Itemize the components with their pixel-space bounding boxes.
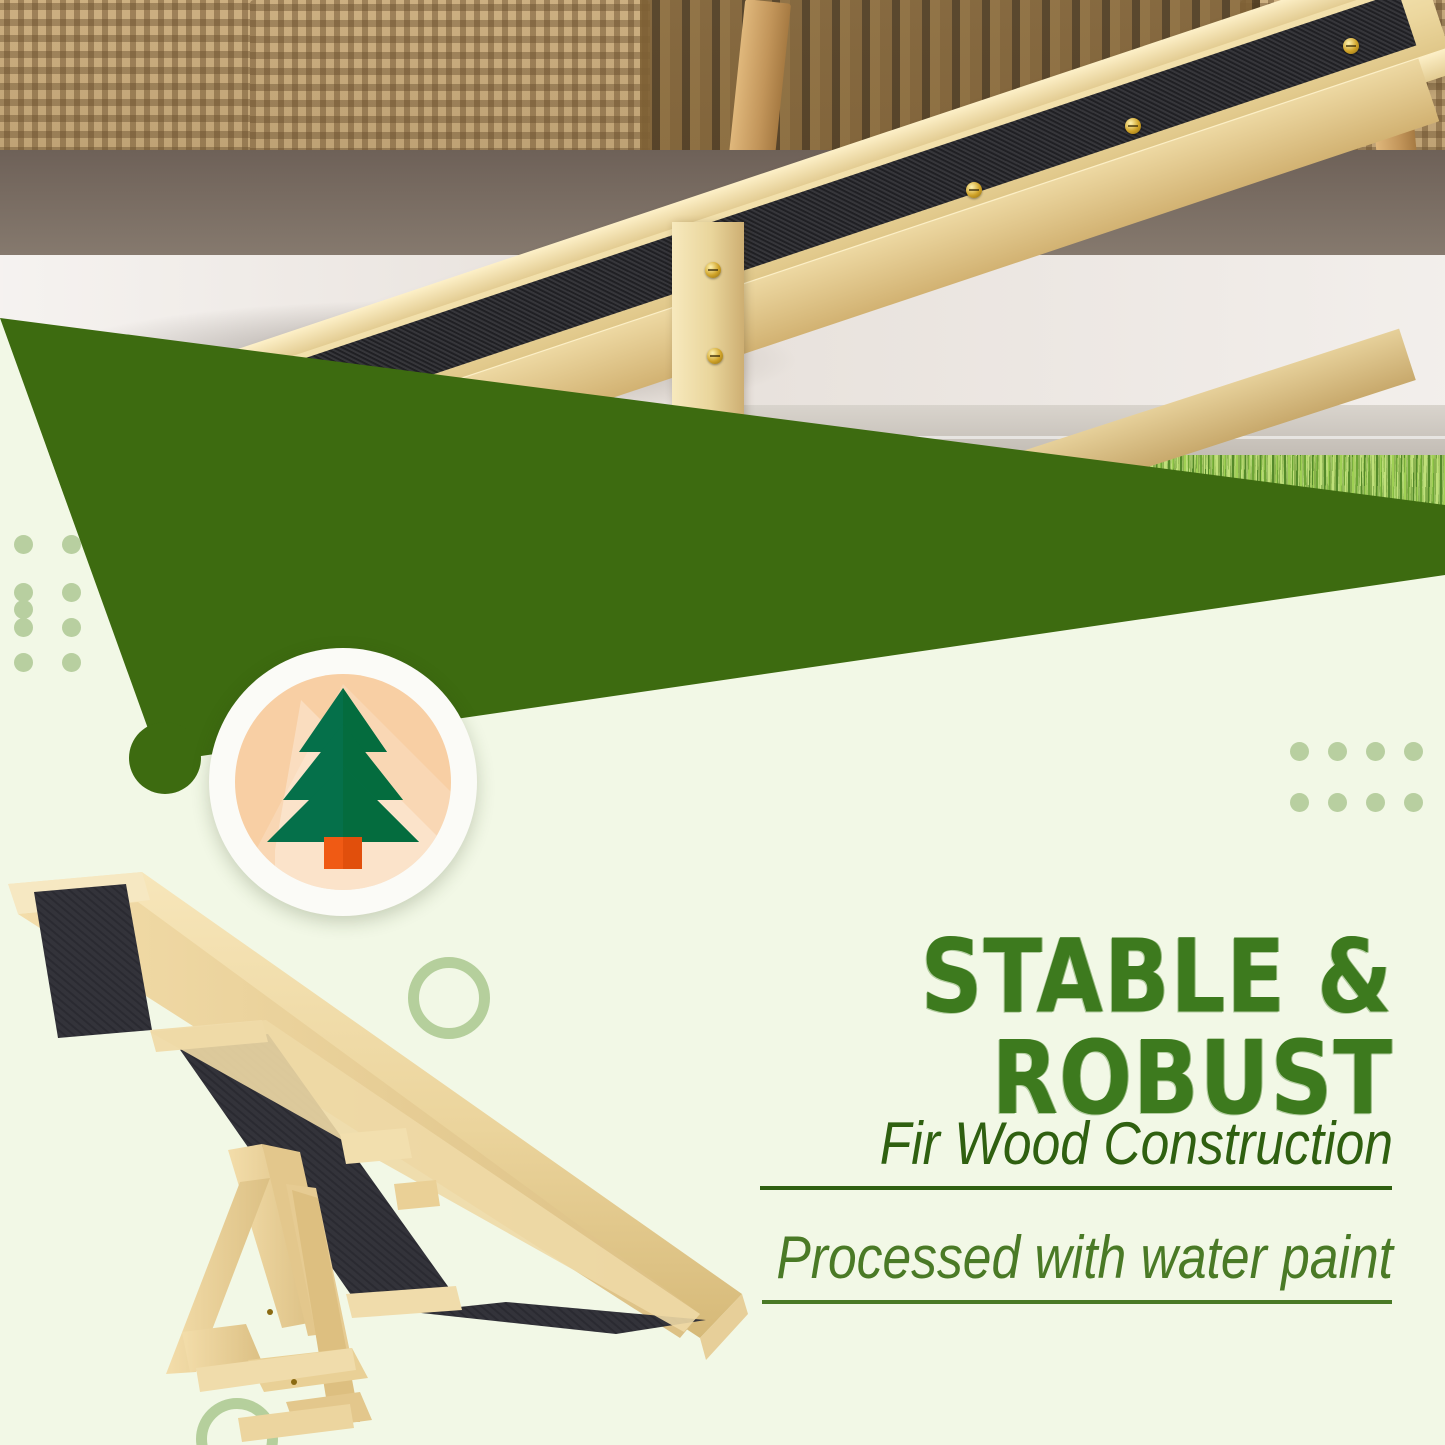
subheadline-2-underline [762, 1300, 1392, 1304]
headline: STABLE & ROBUST [553, 927, 1393, 1130]
subheadline-2: Processed with water paint [619, 1226, 1393, 1289]
subheadline-1-underline [760, 1186, 1392, 1190]
marketing-image-canvas: STABLE & ROBUST Fir Wood Construction Pr… [0, 0, 1445, 1445]
fir-tree-icon [235, 674, 451, 890]
subheadline-1: Fir Wood Construction [619, 1112, 1393, 1175]
